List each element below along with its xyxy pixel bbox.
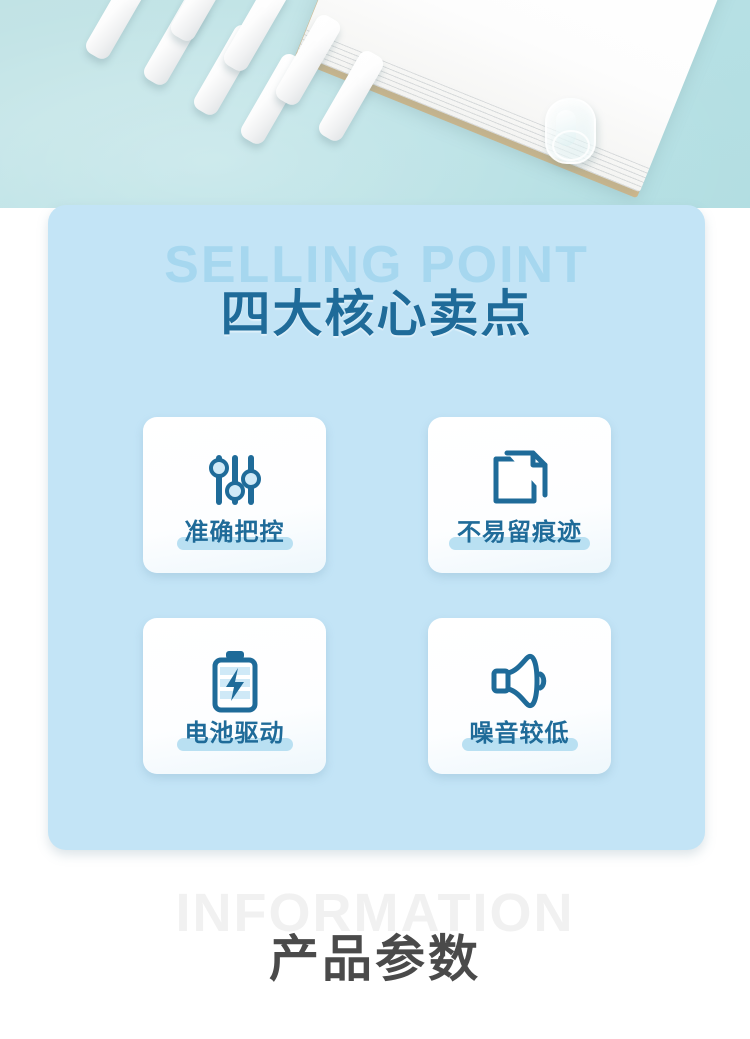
feature-card-label: 噪音较低 <box>465 722 575 749</box>
battery-icon <box>207 644 263 718</box>
feature-card-label: 不易留痕迹 <box>452 521 587 548</box>
glass-cap <box>545 98 596 164</box>
feature-card-no-residue[interactable]: 不易留痕迹 <box>428 417 611 573</box>
feature-card-low-noise[interactable]: 噪音较低 <box>428 618 611 774</box>
feature-card-label: 准确把控 <box>180 521 290 548</box>
selling-point-ghost-title: SELLING POINT <box>48 239 705 291</box>
feature-card-label: 电池驱动 <box>180 722 290 749</box>
hero-photo <box>0 0 750 208</box>
information-main-title: 产品参数 <box>0 934 750 984</box>
feature-card-grid: 准确把控 不易留痕迹 <box>143 417 611 774</box>
sliders-icon <box>206 443 264 517</box>
feature-card-precise-control[interactable]: 准确把控 <box>143 417 326 573</box>
selling-point-panel: SELLING POINT 四大核心卖点 准确把控 <box>48 205 705 850</box>
feature-card-battery-powered[interactable]: 电池驱动 <box>143 618 326 774</box>
selling-point-main-title: 四大核心卖点 <box>48 289 705 339</box>
speaker-icon <box>487 644 553 718</box>
documents-icon <box>490 443 550 517</box>
information-heading: INFORMATION 产品参数 <box>0 880 750 1010</box>
selling-point-heading: SELLING POINT 四大核心卖点 <box>48 239 705 369</box>
